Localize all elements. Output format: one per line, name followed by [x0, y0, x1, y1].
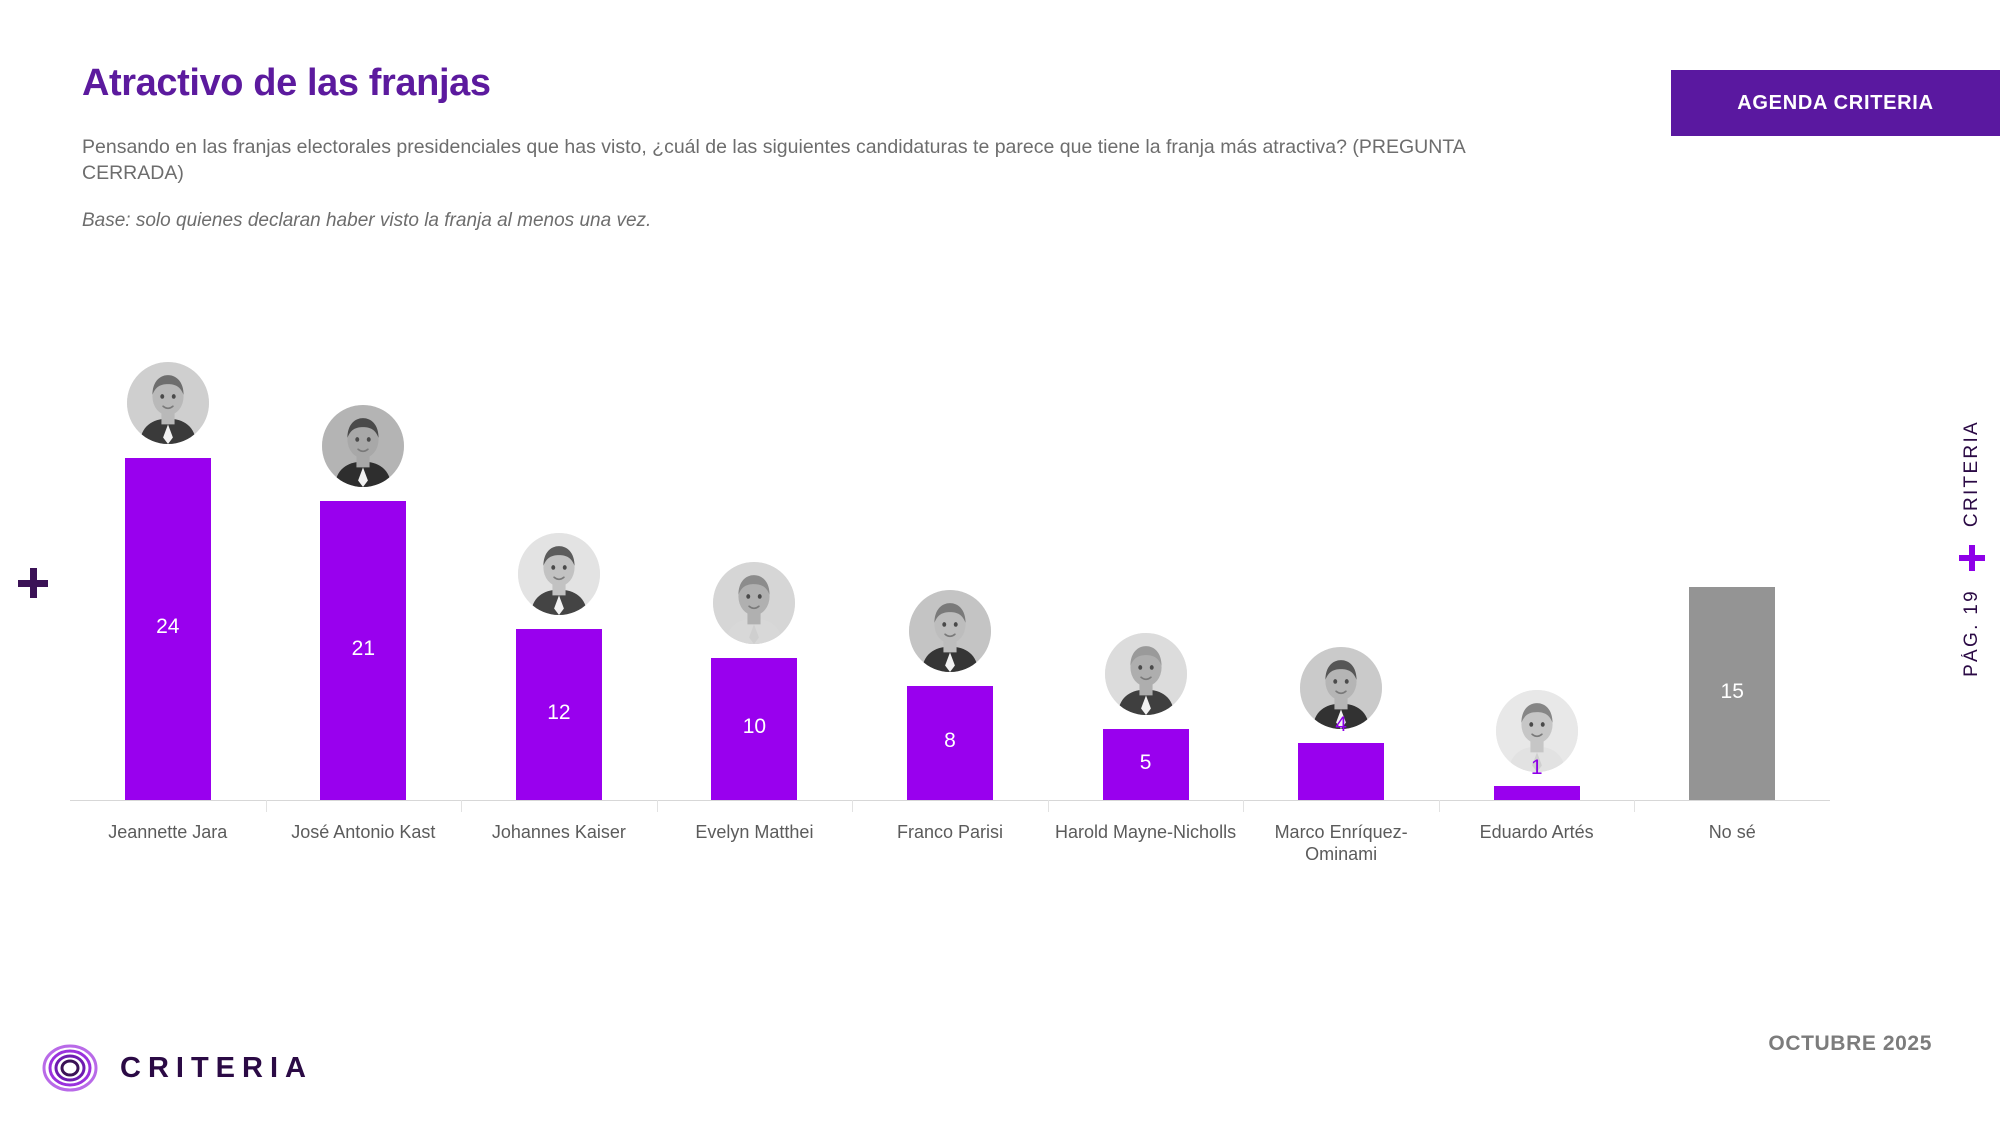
category-label: Evelyn Matthei — [663, 822, 847, 844]
axis-tick — [461, 800, 462, 812]
candidate-avatar — [1105, 633, 1187, 715]
bar-value-label: 8 — [907, 729, 993, 753]
axis-tick — [1243, 800, 1244, 812]
category-label: Jeannette Jara — [76, 822, 260, 844]
axis-tick — [852, 800, 853, 812]
category-label: Johannes Kaiser — [467, 822, 651, 844]
category-label: José Antonio Kast — [272, 822, 456, 844]
footer-date: OCTUBRE 2025 — [1768, 1032, 1932, 1056]
bar-value-label: 4 — [1298, 713, 1384, 737]
bar-value-label: 5 — [1103, 751, 1189, 775]
bar-value-label: 12 — [516, 701, 602, 725]
page-title: Atractivo de las franjas — [82, 62, 491, 105]
candidate-avatar — [909, 590, 991, 672]
bar[interactable] — [1494, 786, 1580, 800]
category-label: Franco Parisi — [858, 822, 1042, 844]
plus-icon-left — [18, 568, 48, 598]
page-number-label: PÁG. 19 — [1961, 589, 1983, 677]
axis-tick — [266, 800, 267, 812]
bar[interactable] — [1298, 743, 1384, 800]
bar-chart: 24Jeannette Jara21José Antonio Kast12Joh… — [70, 300, 1830, 820]
question-text: Pensando en las franjas electorales pres… — [82, 135, 1562, 186]
axis-tick — [657, 800, 658, 812]
bar-value-label: 15 — [1689, 680, 1775, 704]
rail-brand-label: CRITERIA — [1961, 420, 1983, 527]
candidate-avatar — [713, 562, 795, 644]
plus-icon-right — [1959, 545, 1985, 571]
chart-plot-area: 24Jeannette Jara21José Antonio Kast12Joh… — [70, 300, 1830, 820]
bar-value-label: 10 — [711, 715, 797, 739]
category-label: No sé — [1640, 822, 1824, 844]
axis-tick — [1048, 800, 1049, 812]
chart-baseline — [70, 800, 1830, 801]
axis-tick — [1439, 800, 1440, 812]
category-label: Harold Mayne-Nicholls — [1054, 822, 1238, 844]
category-label: Eduardo Artés — [1445, 822, 1629, 844]
agenda-criteria-badge-label: AGENDA CRITERIA — [1737, 92, 1933, 115]
right-rail: CRITERIA PÁG. 19 — [1952, 420, 1992, 720]
candidate-avatar — [518, 533, 600, 615]
criteria-logo: CRITERIA — [42, 1040, 313, 1096]
candidate-avatar — [322, 405, 404, 487]
bar-value-label: 24 — [125, 615, 211, 639]
category-label: Marco Enríquez-Ominami — [1249, 822, 1433, 866]
base-note: Base: solo quienes declaran haber visto … — [82, 209, 1282, 234]
criteria-logo-mark — [42, 1040, 98, 1096]
axis-tick — [1634, 800, 1635, 812]
criteria-logo-wordmark: CRITERIA — [120, 1052, 313, 1085]
bar-value-label: 21 — [320, 637, 406, 661]
bar-value-label: 1 — [1494, 756, 1580, 780]
candidate-avatar — [127, 362, 209, 444]
agenda-criteria-badge[interactable]: AGENDA CRITERIA — [1671, 70, 2000, 136]
